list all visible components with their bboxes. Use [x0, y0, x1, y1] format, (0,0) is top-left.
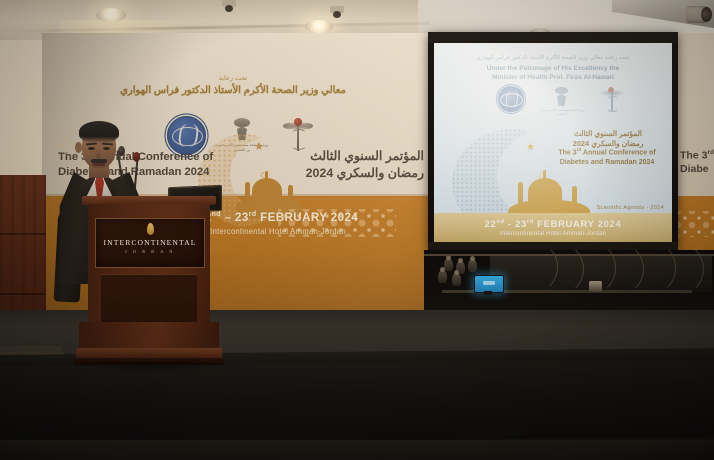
audience-head: [454, 270, 459, 275]
audience-head: [470, 256, 475, 261]
projection-screen-frame: تحت رعاية معالي وزير الصحة الأكرم الأستا…: [428, 32, 678, 250]
ceiling-mount-icon: [330, 6, 344, 13]
room-floor: [0, 440, 714, 460]
banner-date-b-sup: rd: [249, 211, 257, 218]
slide-title-english: The 3rd Annual Conference of Diabetes an…: [548, 147, 666, 168]
slide-title-en-a: The 3: [558, 149, 576, 156]
back-recess-audience-area: [424, 250, 714, 312]
wood-seam: [0, 233, 46, 235]
speaker-podium: INTERCONTINENTAL J O R D A N: [88, 196, 210, 368]
speaker-nose: [96, 150, 101, 159]
slide-date-b-sup: rd: [527, 219, 534, 225]
mosque-crescent-finial-icon: ☾: [538, 173, 545, 181]
ceiling-mount-icon: [222, 0, 236, 7]
microphone-icon: [118, 146, 125, 156]
caduceus-icon: [600, 87, 624, 112]
slide-title-ar-line1: المؤتمر السنوي الثالث: [552, 129, 664, 139]
downlight-icon: [305, 20, 333, 33]
banner2-title-a: The 3: [680, 150, 707, 162]
caduceus-coil: [606, 96, 619, 112]
slide-date-tail: FEBRUARY 2024: [534, 218, 621, 229]
banner-title-ar-line2: رمضان والسكري 2024: [258, 165, 424, 182]
slide-title-en-b: Annual Conference of: [581, 149, 655, 156]
star-icon: ★: [526, 143, 535, 153]
conference-photo-scene: تحت رعاية معالي وزير الصحة الأكرم الأستا…: [0, 0, 714, 460]
slide-title-arabic: المؤتمر السنوي الثالث رمضان والسكري 2024: [552, 129, 664, 149]
banner2-title: The 3rd Diabe: [680, 149, 714, 177]
screen-bottom-casing: [428, 242, 678, 250]
projected-slide: تحت رعاية معالي وزير الصحة الأكرم الأستا…: [434, 43, 672, 243]
audience-head: [440, 267, 445, 272]
decorative-arc-screens: [504, 254, 714, 292]
intercontinental-leaf-logo-icon: [147, 223, 154, 235]
recess-rail: [424, 254, 714, 256]
slide-date-sep: - 23: [505, 218, 527, 229]
jordan-royal-crest-icon: [552, 87, 572, 109]
slide-title-en-line2: Diabetes and Ramadan 2024: [560, 159, 655, 166]
speaker-ear: [75, 142, 82, 153]
speaker-mouth: [93, 163, 105, 166]
speaker-eye: [103, 147, 110, 150]
banner-title-ar-line1: المؤتمر السنوي الثالث: [258, 148, 424, 165]
podium-lower-panel: [101, 274, 197, 323]
banner-title-arabic: المؤتمر السنوي الثالث رمضان والسكري 2024: [258, 148, 424, 181]
screen-top-casing: [428, 32, 678, 43]
podium-brand-plaque: INTERCONTINENTAL J O R D A N: [95, 218, 205, 268]
banner2-title-line2: Diabe: [680, 163, 709, 175]
slide-date-a-sup: nd: [496, 219, 504, 225]
podium-brand-name: INTERCONTINENTAL: [96, 238, 204, 247]
wood-seam: [0, 293, 46, 295]
slide-bottom-gold-band: 22nd - 23rd FEBRUARY 2024 Intercontinent…: [434, 213, 672, 243]
banner-ornament-pattern: [278, 209, 396, 237]
slide-logo-row: وزارة الصحة مستشفى الأمير حمزة بن الحسين: [482, 86, 632, 116]
slide-date-a: 22: [485, 218, 497, 229]
speaker-hair: [79, 121, 119, 143]
speaker-eye: [88, 147, 95, 150]
slide-date: 22nd - 23rd FEBRUARY 2024: [434, 218, 672, 229]
monitor-stand: [484, 291, 492, 295]
downlight-icon: [96, 8, 126, 22]
podium-shadow: [72, 362, 228, 372]
spotlight-icon: [686, 6, 710, 23]
audience-head: [458, 258, 463, 263]
slide-patronage-english: Under the Patronage of His Excellency th…: [448, 65, 658, 83]
slide-patronage-arabic: تحت رعاية معالي وزير الصحة الأكرم الأستا…: [444, 55, 662, 61]
caduceus-top-ball: [294, 118, 302, 126]
banner-date-a-sup: nd: [212, 211, 221, 218]
banner2-title-sup: rd: [707, 149, 714, 156]
slide-patronage-en-line1: Under the Patronage of His Excellency th…: [448, 65, 658, 74]
microphone-icon: [133, 152, 140, 162]
caduceus-top-ball: [608, 87, 614, 93]
banner-date-sep: – 23: [221, 211, 249, 224]
podium-body: INTERCONTINENTAL J O R D A N: [88, 204, 210, 322]
slide-moh-caption: وزارة الصحة مستشفى الأمير حمزة بن الحسين: [538, 108, 586, 117]
banner-patronage-sub: تحت رعاية: [42, 74, 424, 82]
jsd-logo-icon: [498, 86, 524, 112]
slide-agenda-label: Scientific Agenda - 2024: [544, 205, 664, 211]
slide-patronage-en-line2: Minister of Health Prof. Firas Al-Hawari: [448, 74, 658, 83]
banner2-ornament-pattern: [678, 211, 714, 237]
podium-brand-sub: J O R D A N: [96, 249, 204, 254]
slide-venue: Intercontinental Hotel Amman-Jordan: [434, 231, 672, 237]
stage-equipment-box: [589, 281, 602, 292]
banner-patronage-main: معالي وزير الصحة الأكرم الأستاذ الدكتور …: [42, 85, 424, 96]
